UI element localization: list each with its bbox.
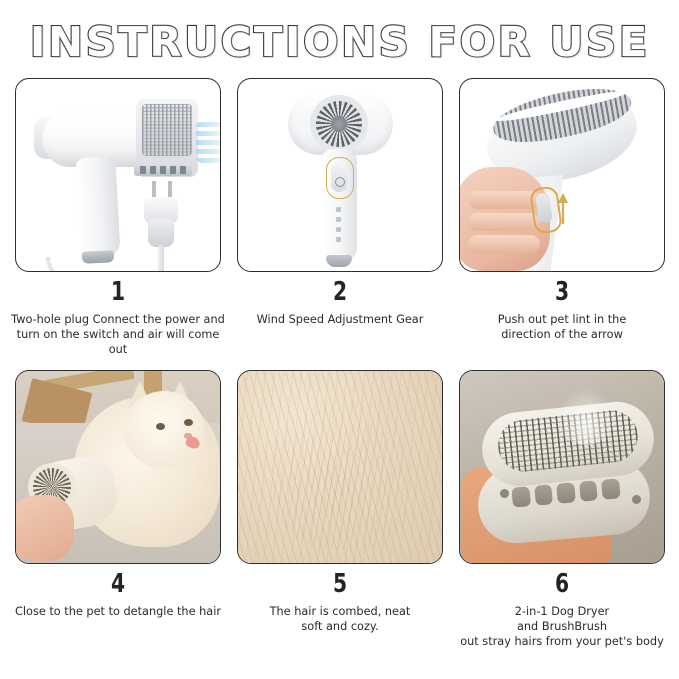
dryer-handle-icon — [75, 156, 120, 258]
speed-indicator-dot-4-icon — [336, 237, 341, 242]
finger-1-icon — [468, 191, 540, 209]
speed-indicator-dot-1-icon — [336, 207, 341, 212]
speed-indicator-dot-2-icon — [336, 217, 341, 222]
step-caption-3: Push out pet lint in the direction of th… — [454, 313, 670, 343]
plug-base-icon — [148, 219, 174, 247]
illustration-cat-grooming — [16, 371, 220, 563]
step-caption-5: The hair is combed, neat soft and cozy. — [232, 605, 448, 635]
illustration-dryer-with-plug — [16, 79, 220, 271]
dryer-foot-icon — [326, 255, 352, 267]
step-number-5: 5 — [333, 571, 347, 597]
finger-3-icon — [468, 235, 540, 253]
step-card-5: 5 The hair is combed, neat soft and cozy… — [232, 370, 448, 650]
step-number-2: 2 — [333, 279, 347, 305]
cat-eye-right-icon — [184, 419, 193, 426]
step-caption-1: Two-hole plug Connect the power and turn… — [10, 313, 226, 358]
step-card-2: 2 Wind Speed Adjustment Gear — [232, 78, 448, 358]
hand-icon — [15, 495, 74, 561]
step-number-3: 3 — [555, 279, 569, 305]
step-image-4 — [15, 370, 221, 564]
brush-pins-icon — [142, 104, 192, 156]
power-cord-icon — [46, 257, 120, 272]
page-title: INSTRUCTIONS FOR USE — [30, 18, 650, 66]
cat-head-icon — [124, 391, 204, 469]
speed-indicator-dot-3-icon — [336, 227, 341, 232]
illustration-dryer-rear-view — [238, 79, 442, 271]
step-card-6: 6 2-in-1 Dog Dryer and BrushBrush out st… — [454, 370, 670, 650]
fur-strands-overlay — [272, 401, 416, 549]
power-symbol-icon — [335, 177, 345, 187]
step-card-3: 3 Push out pet lint in the direction of … — [454, 78, 670, 358]
finger-2-icon — [468, 213, 540, 231]
step-caption-2: Wind Speed Adjustment Gear — [232, 313, 448, 328]
plug-cord-icon — [158, 245, 164, 272]
step-number-4: 4 — [111, 571, 125, 597]
step-image-1 — [15, 78, 221, 272]
cat-eye-left-icon — [156, 423, 165, 430]
step-card-1: 1 Two-hole plug Connect the power and tu… — [10, 78, 226, 358]
direction-arrow-icon — [556, 191, 570, 225]
step-image-5 — [237, 370, 443, 564]
airflow-icon — [196, 121, 221, 163]
step-image-6 — [459, 370, 665, 564]
step-card-4: 4 Close to the pet to detangle the hair — [10, 370, 226, 650]
header: INSTRUCTIONS FOR USE — [0, 0, 679, 78]
dryer-switch-icon — [134, 163, 192, 176]
steps-grid-row-2: 4 Close to the pet to detangle the hair … — [0, 370, 679, 650]
steps-grid-row-1: 1 Two-hole plug Connect the power and tu… — [0, 78, 679, 358]
step-number-1: 1 — [111, 279, 125, 305]
illustration-push-out-lint — [460, 79, 664, 271]
collected-hair-icon — [556, 387, 616, 445]
illustration-combed-fur — [238, 371, 442, 563]
step-caption-6: 2-in-1 Dog Dryer and BrushBrush out stra… — [454, 605, 670, 650]
step-caption-4: Close to the pet to detangle the hair — [10, 605, 226, 620]
step-number-6: 6 — [555, 571, 569, 597]
illustration-brush-with-hair — [460, 371, 664, 563]
fan-hub-icon — [331, 116, 347, 132]
step-image-2 — [237, 78, 443, 272]
step-image-3 — [459, 78, 665, 272]
